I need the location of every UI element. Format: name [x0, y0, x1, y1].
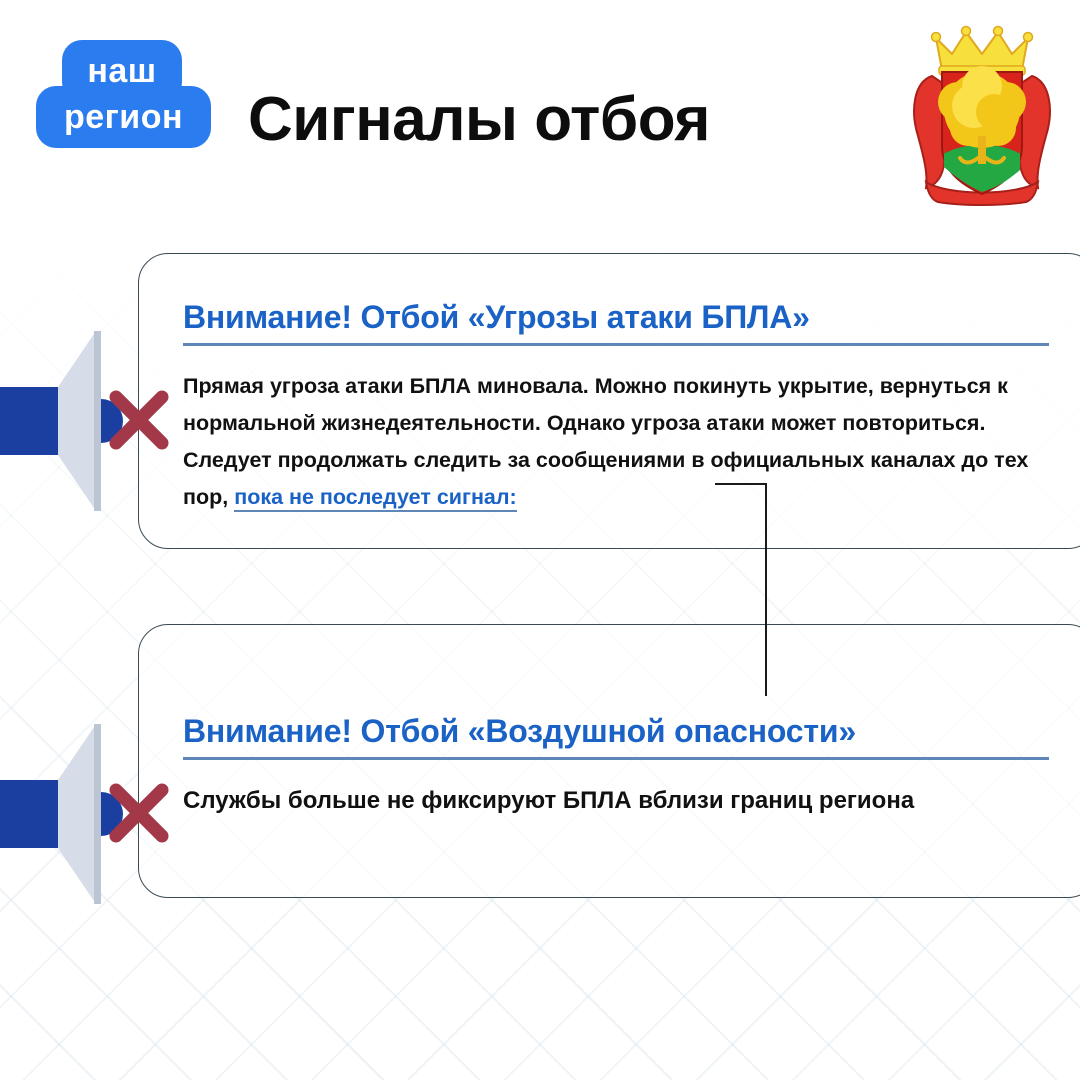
- card-1-body-highlight: пока не последует сигнал:: [234, 485, 517, 512]
- page-title: Сигналы отбоя: [248, 84, 710, 155]
- speaker-cone-part: [58, 724, 96, 904]
- card-air-danger-allclear[interactable]: Внимание! Отбой «Воздушной опасности» Сл…: [138, 624, 1080, 898]
- card-1-heading-rule: [183, 343, 1049, 346]
- card-1-content: Внимание! Отбой «Угрозы атаки БПЛА» Прям…: [183, 299, 1049, 516]
- logo-nash-region[interactable]: наш регион: [36, 40, 211, 156]
- header: наш регион Сигналы отбоя: [0, 0, 1080, 225]
- muted-speaker-icon: [0, 325, 184, 515]
- speaker-body-part: [0, 780, 58, 848]
- speaker-face-part: [94, 724, 101, 904]
- logo-pill-bottom: регион: [36, 86, 211, 148]
- card-2-heading-rule: [183, 757, 1049, 760]
- coat-of-arms-icon: [906, 24, 1058, 206]
- card-bpla-threat-allclear[interactable]: Внимание! Отбой «Угрозы атаки БПЛА» Прям…: [138, 253, 1080, 549]
- muted-speaker-icon: [0, 718, 184, 908]
- card-2-heading: Внимание! Отбой «Воздушной опасности»: [183, 713, 1049, 750]
- card-1-heading: Внимание! Отбой «Угрозы атаки БПЛА»: [183, 299, 1049, 336]
- speaker-cone-part: [58, 331, 96, 511]
- card-2-content: Внимание! Отбой «Воздушной опасности» Сл…: [183, 713, 1049, 817]
- speaker-body-part: [0, 387, 58, 455]
- speaker-face-part: [94, 331, 101, 511]
- card-1-body: Прямая угроза атаки БПЛА миновала. Можно…: [183, 368, 1049, 516]
- infographic-canvas: наш регион Сигналы отбоя: [0, 0, 1080, 1080]
- card-2-body: Службы больше не фиксируют БПЛА вблизи г…: [183, 784, 1049, 818]
